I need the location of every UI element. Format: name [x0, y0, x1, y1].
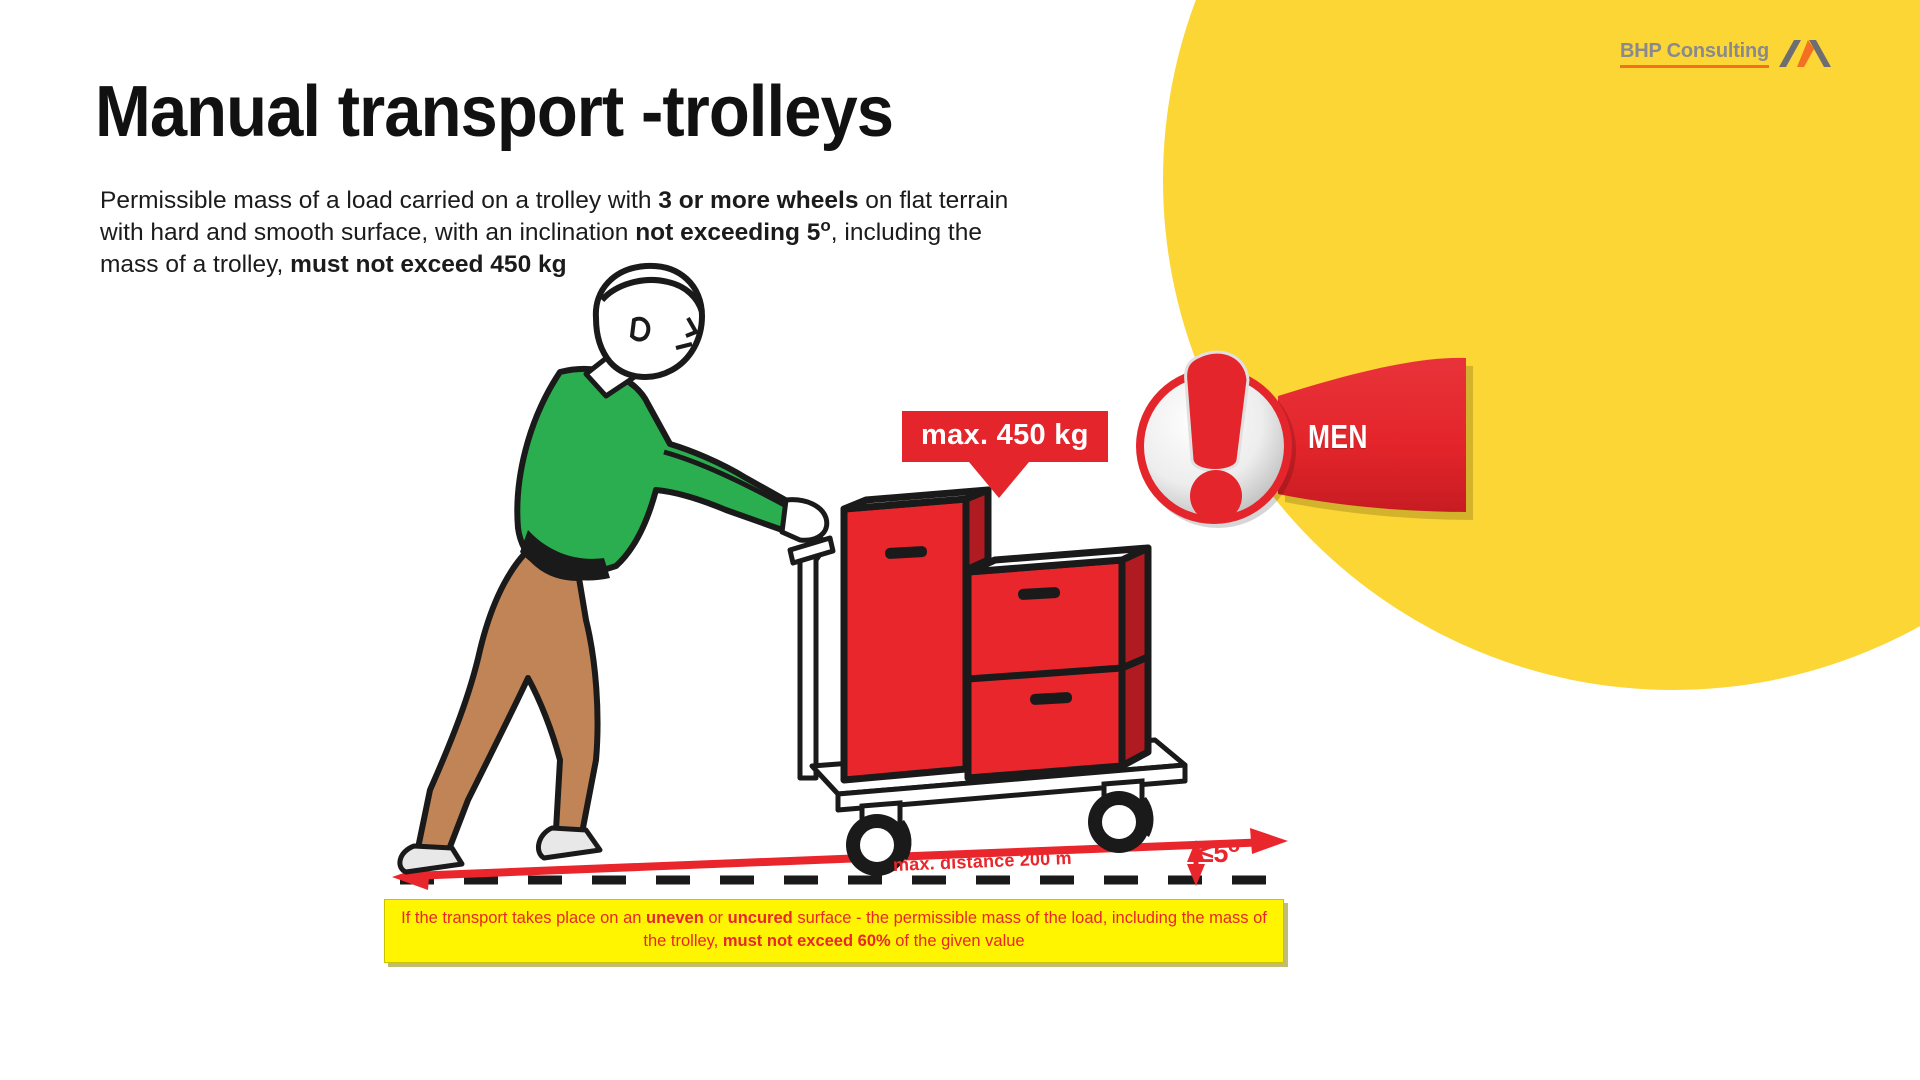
note-bold-percent: must not exceed 60% [723, 932, 891, 950]
chevron-mountain-icon [1777, 36, 1833, 68]
warning-badge-graphic [1130, 318, 1480, 538]
warning-badge: MEN [1130, 318, 1480, 538]
brand-logo: BHP Consulting [1620, 36, 1833, 68]
warning-note-box: If the transport takes place on an uneve… [384, 899, 1284, 963]
intro-paragraph: Permissible mass of a load carried on a … [100, 185, 1020, 281]
load-boxes [844, 490, 1148, 780]
note-bold-uncured: uncured [728, 909, 793, 927]
max-load-callout: max. 450 kg [902, 411, 1108, 498]
callout-pointer [969, 462, 1029, 498]
worker-trousers [418, 540, 598, 852]
exclamation-mark-icon [1186, 352, 1248, 470]
max-load-callout-label: max. 450 kg [902, 411, 1108, 462]
degree-superscript: o [820, 215, 830, 234]
intro-bold-limit: must not exceed 450 kg [290, 251, 566, 278]
logo-underline [1620, 65, 1769, 68]
worker-figure [400, 266, 827, 872]
middle-box [968, 548, 1148, 679]
intro-part-1: Permissible mass of a load carried on a … [100, 187, 658, 214]
ribbon-shape [1278, 358, 1466, 512]
logo-text-wrap: BHP Consulting [1620, 41, 1769, 68]
page-title: Manual transport -trolleys [95, 74, 893, 152]
note-part-1: If the transport takes place on an [401, 909, 646, 927]
worker-hand [782, 500, 827, 541]
worker-shoe-front [538, 828, 600, 858]
tall-box [844, 490, 988, 780]
max-angle-label: ≤5o [1199, 838, 1240, 869]
max-angle-degree: o [1228, 835, 1240, 857]
intro-bold-inclination-text: not exceeding 5 [635, 219, 820, 246]
slope-arrow [392, 828, 1288, 890]
note-part-4: of the given value [891, 932, 1025, 950]
max-angle-value: ≤5 [1199, 838, 1228, 868]
worker-shoe-rear [400, 846, 462, 872]
logo-text: BHP Consulting [1620, 41, 1769, 62]
note-bold-uneven: uneven [646, 909, 704, 927]
intro-bold-inclination: not exceeding 5o [635, 219, 831, 246]
worker-shirt [517, 369, 796, 578]
intro-bold-wheels: 3 or more wheels [658, 187, 858, 214]
note-part-2: or [704, 909, 728, 927]
warning-badge-label: MEN [1308, 418, 1368, 456]
